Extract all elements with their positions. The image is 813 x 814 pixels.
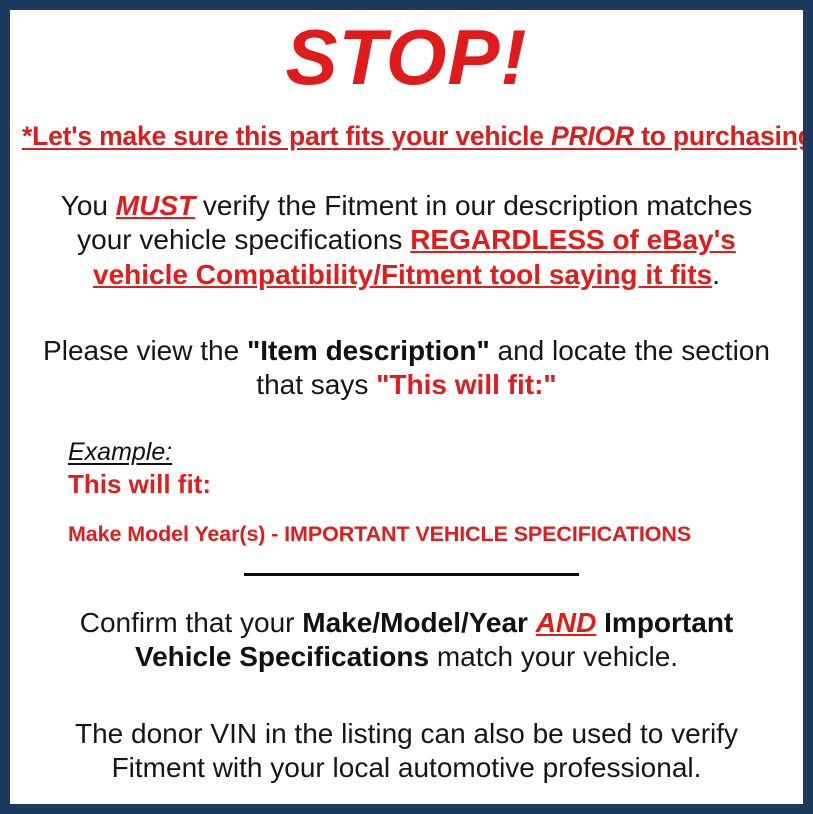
must-emphasis: MUST xyxy=(116,190,195,221)
confirm-space-1 xyxy=(528,607,536,638)
subtitle-emphasis-prior: PRIOR xyxy=(551,121,634,151)
subtitle-text-after: to purchasing* xyxy=(634,121,813,151)
item-description-emphasis: "Item description" xyxy=(247,335,490,366)
donor-vin-paragraph: The donor VIN in the listing can also be… xyxy=(22,717,791,785)
must-seg-1: You xyxy=(61,190,116,221)
confirm-seg-1: Confirm that your xyxy=(80,607,303,638)
confirm-seg-2: match your vehicle. xyxy=(429,641,678,672)
page-title: STOP! xyxy=(22,18,791,98)
view-description-paragraph: Please view the "Item description" and l… xyxy=(22,334,791,402)
must-verify-paragraph: You MUST verify the Fitment in our descr… xyxy=(22,189,791,291)
example-block: Example: This will fit: Make Model Year(… xyxy=(22,438,791,547)
subtitle-text-before: *Let's make sure this part fits your veh… xyxy=(22,121,551,151)
example-fit-header: This will fit: xyxy=(68,469,791,500)
confirm-paragraph: Confirm that your Make/Model/Year AND Im… xyxy=(22,606,791,674)
subtitle-banner: *Let's make sure this part fits your veh… xyxy=(22,122,791,152)
section-divider xyxy=(244,573,579,576)
divider-container xyxy=(22,573,791,576)
confirm-space-2 xyxy=(596,607,604,638)
make-model-year-emphasis: Make/Model/Year xyxy=(302,607,528,638)
fitment-notice-card: STOP! *Let's make sure this part fits yo… xyxy=(0,0,813,814)
must-seg-3: . xyxy=(712,259,720,290)
example-label: Example: xyxy=(68,438,791,467)
this-will-fit-emphasis: "This will fit:" xyxy=(376,369,557,400)
example-spec-line: Make Model Year(s) - IMPORTANT VEHICLE S… xyxy=(68,522,791,547)
notice-content: STOP! *Let's make sure this part fits yo… xyxy=(10,18,803,812)
view-seg-1: Please view the xyxy=(43,335,247,366)
and-emphasis: AND xyxy=(536,607,597,638)
